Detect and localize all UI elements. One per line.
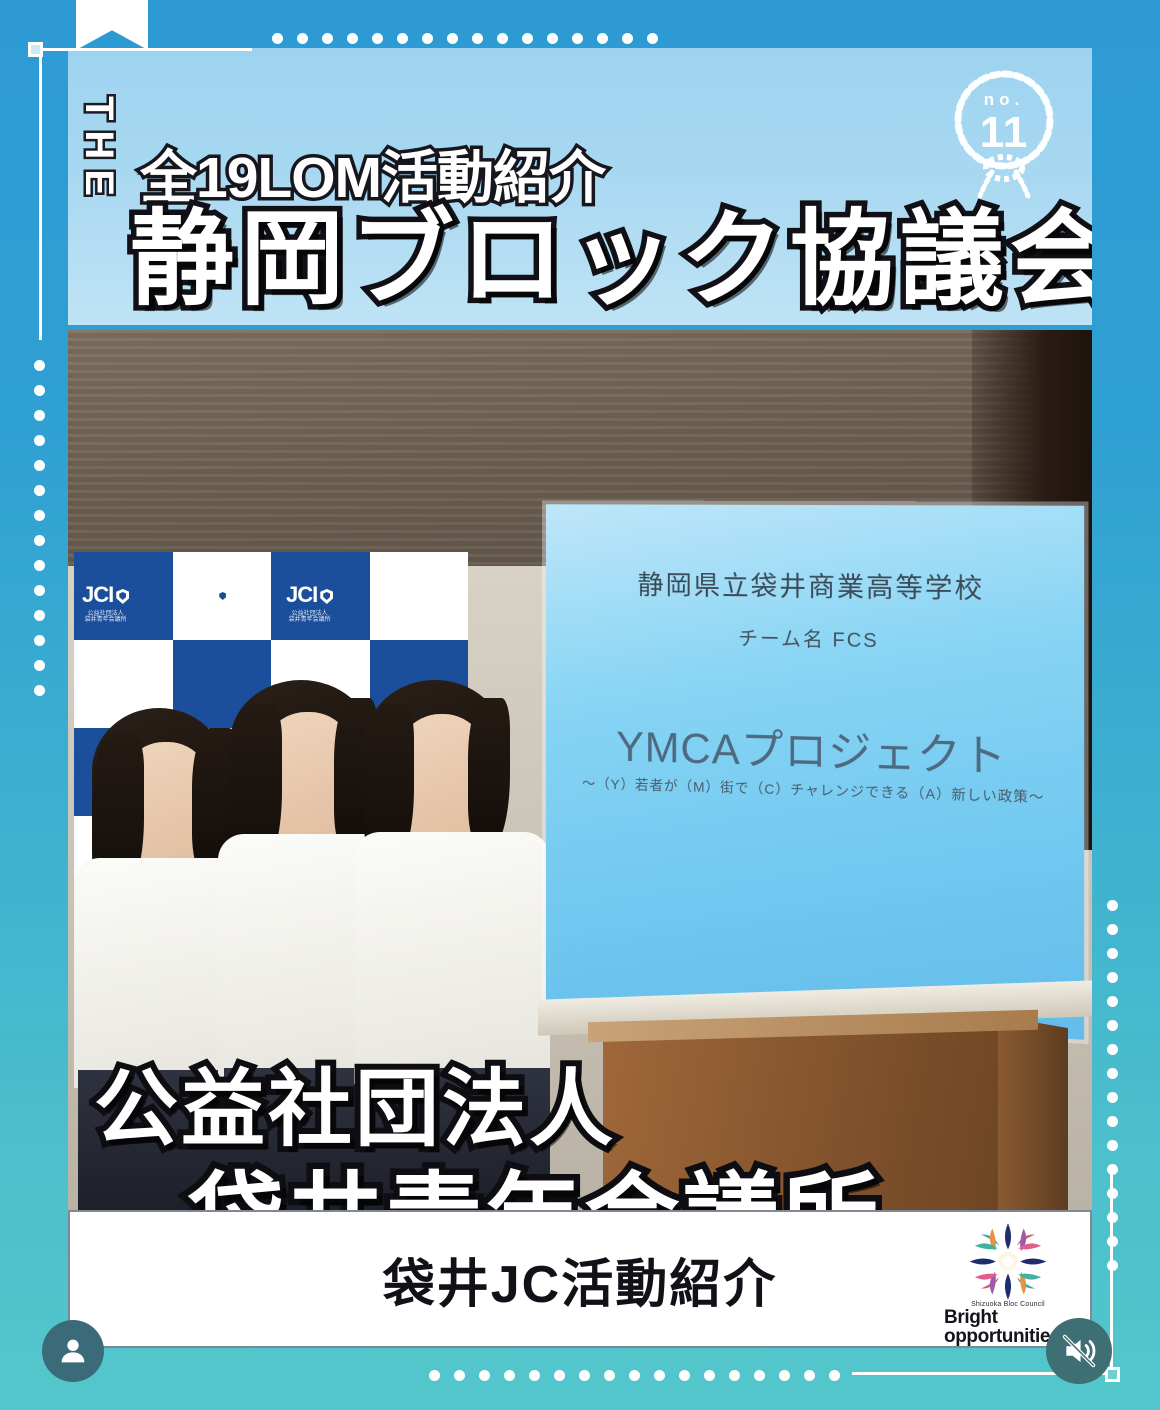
jci-logo-text: JCI xyxy=(182,582,213,607)
jci-logo: JCI 公益社団法人袋井青年会議所 xyxy=(182,584,229,623)
ribbon-bookmark-decoration xyxy=(76,0,148,50)
top-dotted-line-decoration xyxy=(272,33,658,44)
left-dotted-line-decoration xyxy=(34,360,45,696)
the-vertical-label: THE xyxy=(76,96,121,206)
star-flower-icon xyxy=(960,1218,1056,1305)
slide-school-name: 静岡県立袋井商業高等学校 xyxy=(546,563,1084,608)
left-line-decoration xyxy=(39,50,42,340)
jci-shield-icon xyxy=(216,589,229,604)
mute-toggle-button[interactable] xyxy=(1046,1318,1112,1384)
speaker-muted-icon xyxy=(1060,1332,1098,1370)
person-icon xyxy=(56,1334,90,1368)
bottom-right-square-handle xyxy=(1105,1367,1120,1382)
shizuoka-bloc-logo: Shizuoka Bloc Council Bright opportuniti… xyxy=(944,1218,1072,1346)
jci-logo-text: JCI xyxy=(286,582,317,607)
badge-prefix: no. xyxy=(948,90,1060,110)
jci-logo: JCI 公益社団法人袋井青年会議所 xyxy=(82,584,129,623)
podium-side-panel xyxy=(998,1016,1068,1210)
issue-number-badge: no. 11 xyxy=(948,60,1060,208)
top-line-decoration xyxy=(34,48,252,51)
event-photo: JCI 公益社団法人袋井青年会議所 JCI 公益社団法人袋井青年会議所 JCI … xyxy=(68,330,1092,1210)
caption-text: 袋井JC活動紹介 xyxy=(383,1242,777,1317)
overlay-headline-line2: 袋井青年会議所 xyxy=(188,1140,881,1210)
bottom-dotted-line-decoration xyxy=(429,1370,840,1381)
avatar-button[interactable] xyxy=(42,1320,104,1382)
top-left-square-handle xyxy=(28,42,43,57)
jci-logo-text: JCI xyxy=(82,582,113,607)
badge-number: 11 xyxy=(948,108,1060,158)
projection-screen: 静岡県立袋井商業高等学校 チーム名 FCS YMCAプロジェクト 〜（Y）若者が… xyxy=(546,504,1084,1039)
jci-shield-icon xyxy=(320,589,333,604)
header-title: 静岡ブロック協議会 xyxy=(130,208,1092,312)
jci-shield-icon xyxy=(116,589,129,604)
post-card: THE 全19LOM活動紹介 静岡ブロック協議会 no. 11 xyxy=(68,48,1092,1348)
header-band: THE 全19LOM活動紹介 静岡ブロック協議会 no. 11 xyxy=(68,48,1092,325)
slide-team-name: チーム名 FCS xyxy=(546,619,1084,656)
caption-bar: 袋井JC活動紹介 xyxy=(68,1210,1092,1348)
jci-logo: JCI 公益社団法人袋井青年会議所 xyxy=(286,584,333,623)
